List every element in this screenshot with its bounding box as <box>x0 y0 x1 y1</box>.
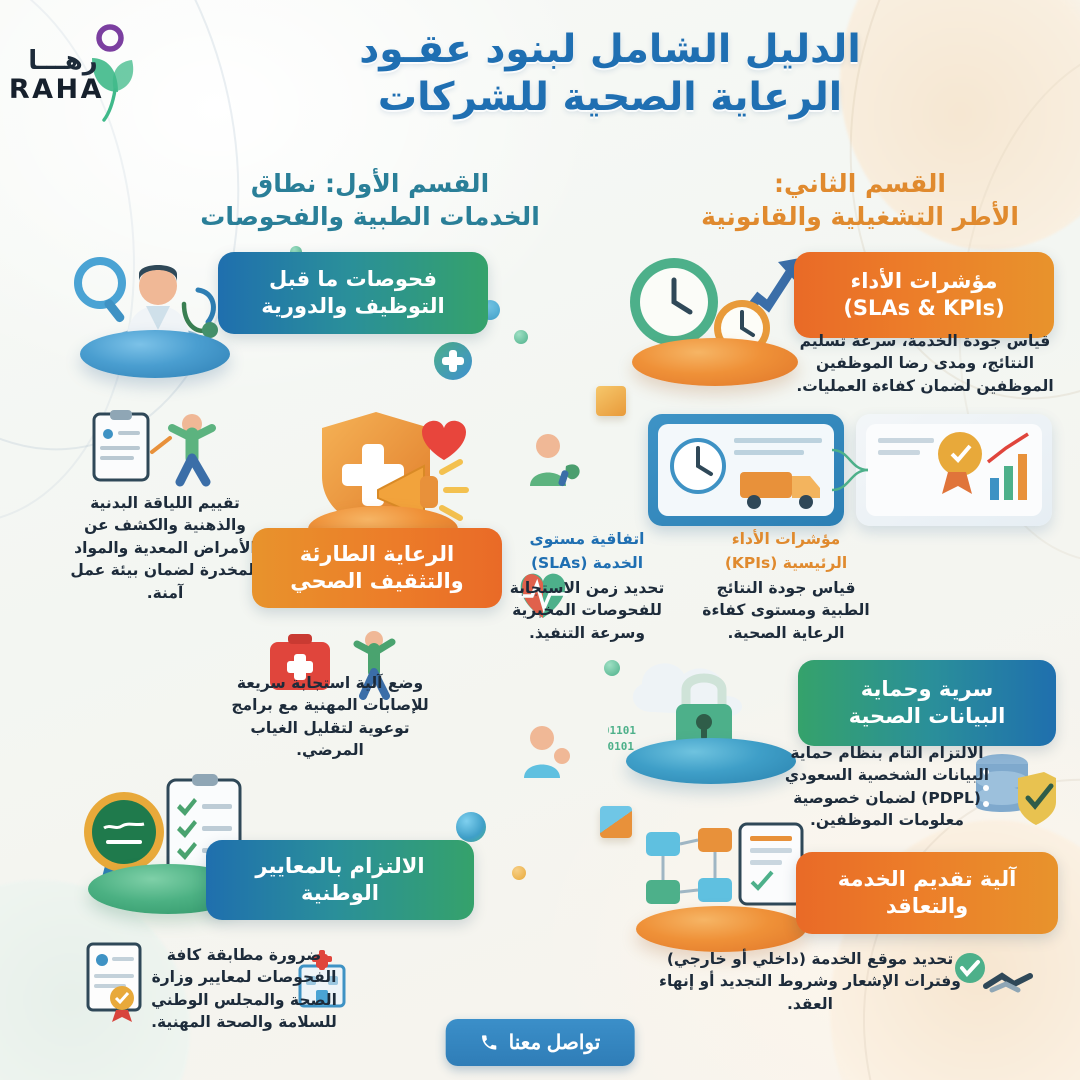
section-left-line-1: القسم الأول: نطاق <box>251 169 489 198</box>
clocks-with-growth-arrow-illustration <box>618 240 818 390</box>
banner-emergency-care[interactable]: الرعاية الطارئة والتثقيف الصحي <box>252 528 502 608</box>
logo-arabic-text: رهـــا <box>22 48 104 74</box>
section-right-line-2: الأطر التشغيلية والقانونية <box>701 202 1019 231</box>
svg-text:01101: 01101 <box>608 724 636 737</box>
decor-dot <box>514 330 528 344</box>
sla-description: تحديد زمن الاستجابة للفحوصات المخبرية وس… <box>510 579 665 642</box>
banner-data-protection[interactable]: سرية وحماية البيانات الصحية <box>798 660 1056 746</box>
contact-label: تواصل معنا <box>509 1030 601 1055</box>
sla-title-line-1: اتفاقية مستوى <box>506 528 668 550</box>
person-avatar-icon <box>514 722 578 782</box>
sla-panel-illustration <box>648 414 844 526</box>
banner-line-2: التوظيف والدورية <box>261 294 445 318</box>
banner-line-2: (SLAs & KPIs) <box>843 296 1004 320</box>
banner-line-2: والتثقيف الصحي <box>290 569 463 593</box>
decor-dot <box>456 812 486 842</box>
certificate-document-icon <box>82 940 148 1024</box>
svg-text:0101: 0101 <box>608 740 634 753</box>
kpi-card-text: مؤشرات الأداء الرئيسية (KPIs) قياس جودة … <box>702 528 870 644</box>
page-title: الدليل الشامل لبنود عقـود الرعاية الصحية… <box>260 26 960 123</box>
banner-line-2: البيانات الصحية <box>849 704 1006 728</box>
panel-connector-icon <box>830 440 870 500</box>
description-pre-employment-exams: تقييم اللياقة البدنية والذهنية والكشف عن… <box>70 492 260 604</box>
banner-service-delivery[interactable]: آلية تقديم الخدمة والتعاقد <box>796 852 1058 934</box>
banner-line-2: الوطنية <box>301 881 379 905</box>
banner-line-1: الرعاية الطارئة <box>300 542 454 566</box>
description-emergency-care: وضع آلية استجابة سريعة للإصابات المهنية … <box>230 672 430 762</box>
description-service-delivery: تحديد موقع الخدمة (داخلي أو خارجي) وفترا… <box>652 948 968 1015</box>
contact-us-button[interactable]: تواصل معنا <box>446 1019 635 1066</box>
description-performance-indicators: قياس جودة الخدمة، سرعة تسليم النتائج، وم… <box>792 330 1058 397</box>
description-national-standards: ضرورة مطابقة كافة الفحوصات لمعايير وزارة… <box>150 944 338 1034</box>
banner-national-standards[interactable]: الالتزام بالمعايير الوطنية <box>206 840 474 920</box>
banner-pre-employment-exams[interactable]: فحوصات ما قبل التوظيف والدورية <box>218 252 488 334</box>
banner-line-1: سرية وحماية <box>861 677 993 701</box>
kpi-title-line-2: الرئيسية (KPIs) <box>702 552 870 574</box>
kpi-panel-illustration <box>856 414 1052 526</box>
banner-line-1: الالتزام بالمعايير <box>255 854 424 878</box>
kpi-title-line-1: مؤشرات الأداء <box>702 528 870 550</box>
raha-logo[interactable]: رهـــا RAHA <box>14 18 144 128</box>
decor-dot <box>512 866 526 880</box>
section-heading-left: القسم الأول: نطاق الخدمات الطبية والفحوص… <box>200 168 540 233</box>
decor-cube <box>596 386 626 416</box>
section-heading-right: القسم الثاني: الأطر التشغيلية والقانونية <box>680 168 1040 233</box>
banner-line-1: فحوصات ما قبل <box>269 267 437 291</box>
phone-icon <box>480 1033 499 1052</box>
banner-performance-indicators[interactable]: مؤشرات الأداء (SLAs & KPIs) <box>794 252 1054 338</box>
section-right-line-1: القسم الثاني: <box>774 169 946 198</box>
kpi-description: قياس جودة النتائج الطبية ومستوى كفاءة ال… <box>702 579 869 642</box>
logo-latin-text: RAHA <box>22 74 104 105</box>
banner-line-1: مؤشرات الأداء <box>850 269 997 293</box>
title-line-1: الدليل الشامل لبنود عقـود <box>359 27 860 72</box>
checklist-and-fitness-person-illustration <box>88 408 248 488</box>
section-left-line-2: الخدمات الطبية والفحوصات <box>200 202 540 231</box>
sla-title-line-2: الخدمة (SLAs) <box>506 552 668 574</box>
description-data-protection: الالتزام التام بنظام حماية البيانات الشخ… <box>768 742 1006 832</box>
medical-cross-badge-icon <box>432 340 474 382</box>
banner-line-1: آلية تقديم الخدمة <box>838 867 1017 891</box>
sla-card-text: اتفاقية مستوى الخدمة (SLAs) تحديد زمن ال… <box>506 528 668 644</box>
person-avatar-icon <box>522 430 586 490</box>
title-line-2: الرعاية الصحية للشركات <box>260 74 960 122</box>
banner-line-2: والتعاقد <box>886 894 968 918</box>
